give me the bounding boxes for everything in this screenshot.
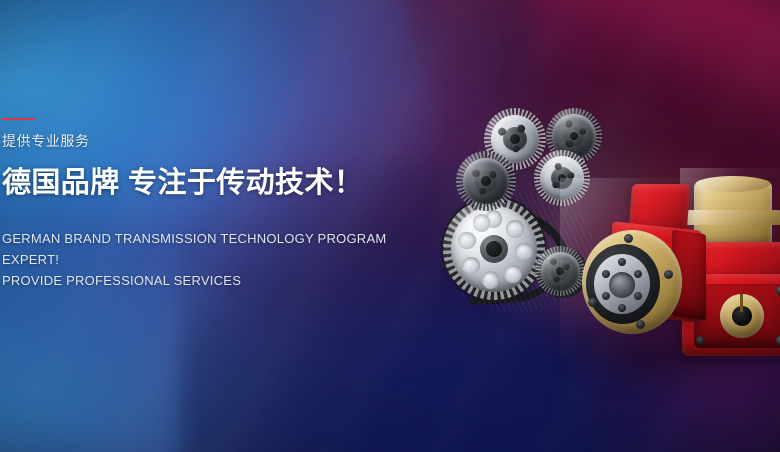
gearbox-rear-screw-br — [776, 336, 780, 345]
subline-secondary: PROVIDE PROFESSIONAL SERVICES — [2, 270, 422, 291]
right-angle-gearbox-front — [560, 178, 740, 358]
gearbox-front-bolt-6 — [602, 270, 610, 278]
gearbox-rear-collar-split — [740, 294, 743, 312]
banner-copy-block: 提供专业服务 德国品牌 专注于传动技术！ GERMAN BRAND TRANSM… — [2, 118, 422, 291]
accent-rule — [2, 118, 35, 120]
gearbox-front-bolt-1 — [618, 258, 626, 266]
gearbox-front-bolt-3 — [634, 292, 642, 300]
subline-primary: GERMAN BRAND TRANSMISSION TECHNOLOGY PRO… — [2, 228, 422, 270]
gearbox-front-bolt-2 — [634, 270, 642, 278]
gearbox-front-bolt-5 — [602, 292, 610, 300]
gearbox-front-rim-screw-bottom — [636, 320, 645, 329]
gearbox-front-rim-screw-right — [664, 270, 673, 279]
promo-banner: 提供专业服务 德国品牌 专注于传动技术！ GERMAN BRAND TRANSM… — [0, 0, 780, 452]
gearbox-front-centre-bore — [609, 272, 635, 298]
gearbox-front-rim-screw-left — [588, 298, 597, 307]
gearbox-front-rim-screw-top — [624, 234, 633, 243]
eyebrow-text: 提供专业服务 — [2, 133, 422, 149]
gearbox-front-bolt-4 — [618, 304, 626, 312]
cam-sprocket-large — [443, 198, 545, 300]
gearbox-rear-screw-tr — [776, 286, 780, 295]
headline-text: 德国品牌 专注于传动技术！ — [2, 166, 422, 200]
